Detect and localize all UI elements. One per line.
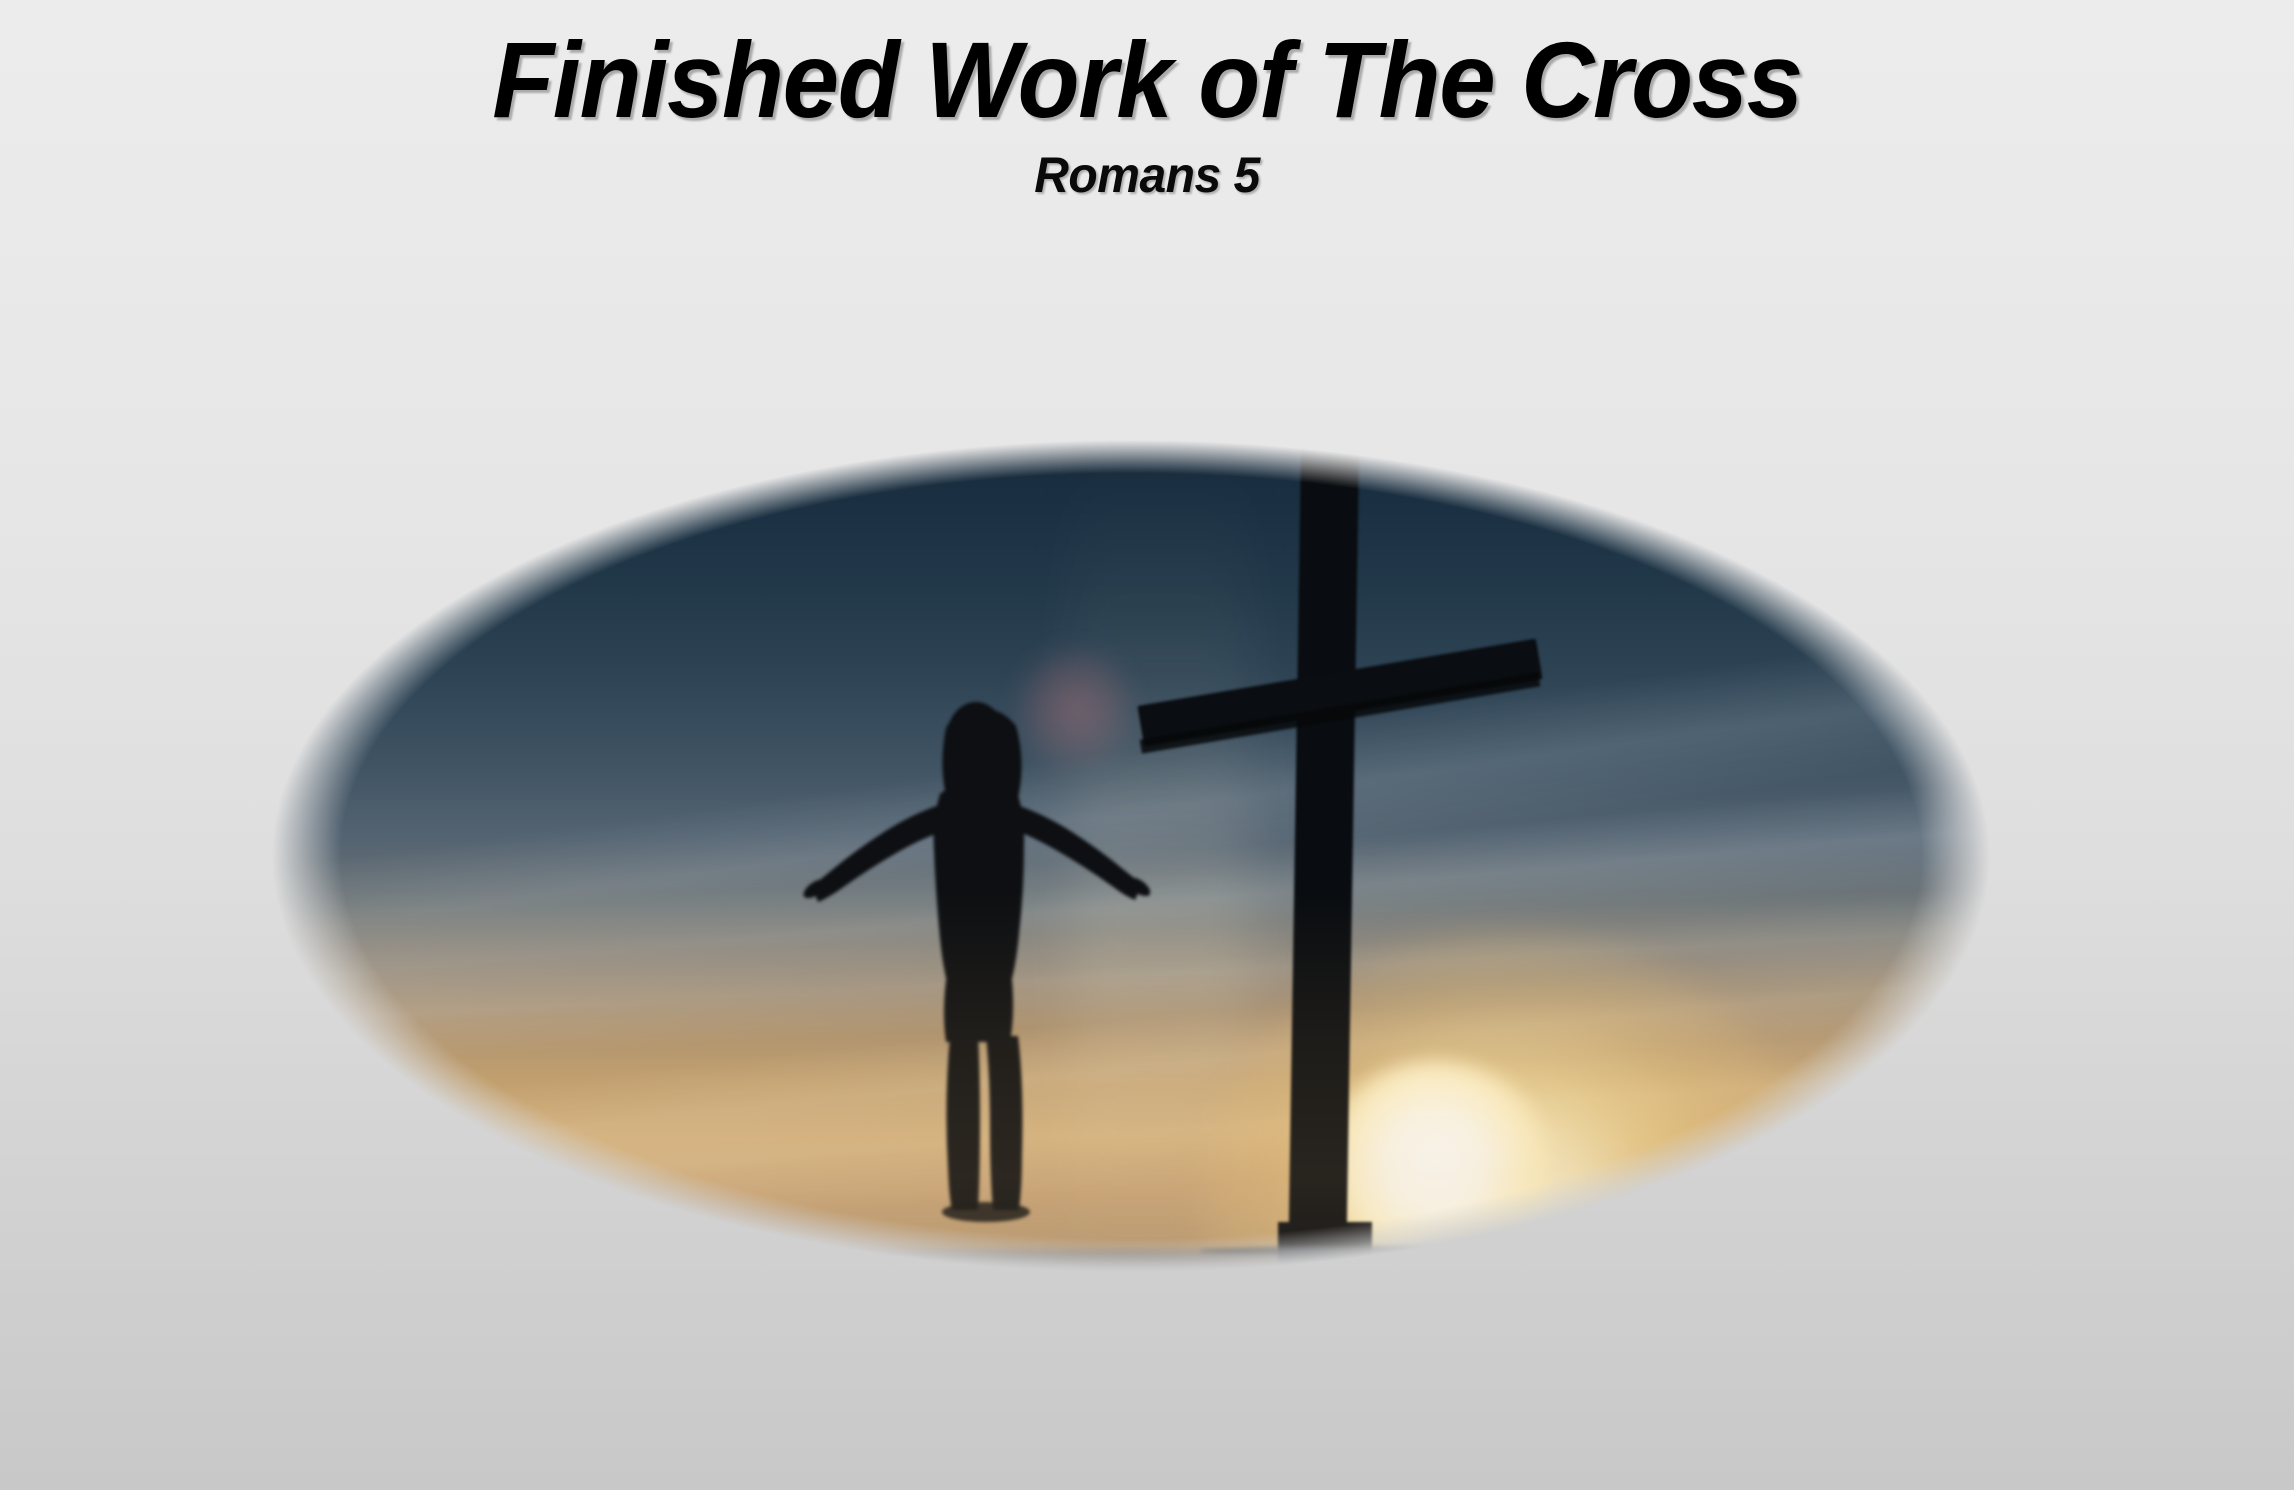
- page-title: Finished Work of The Cross: [69, 0, 2225, 134]
- photo-canvas: [272, 440, 1990, 1272]
- person-silhouette: [800, 688, 1150, 1272]
- slide: Finished Work of The Cross Romans 5: [0, 0, 2294, 1490]
- cross-vertical-beam: [1289, 440, 1360, 1232]
- page-subtitle: Romans 5: [46, 134, 2248, 200]
- title-block: Finished Work of The Cross Romans 5: [0, 0, 2294, 200]
- horizon-line: [272, 1246, 1990, 1272]
- cross-sunset-photo: [272, 440, 1990, 1272]
